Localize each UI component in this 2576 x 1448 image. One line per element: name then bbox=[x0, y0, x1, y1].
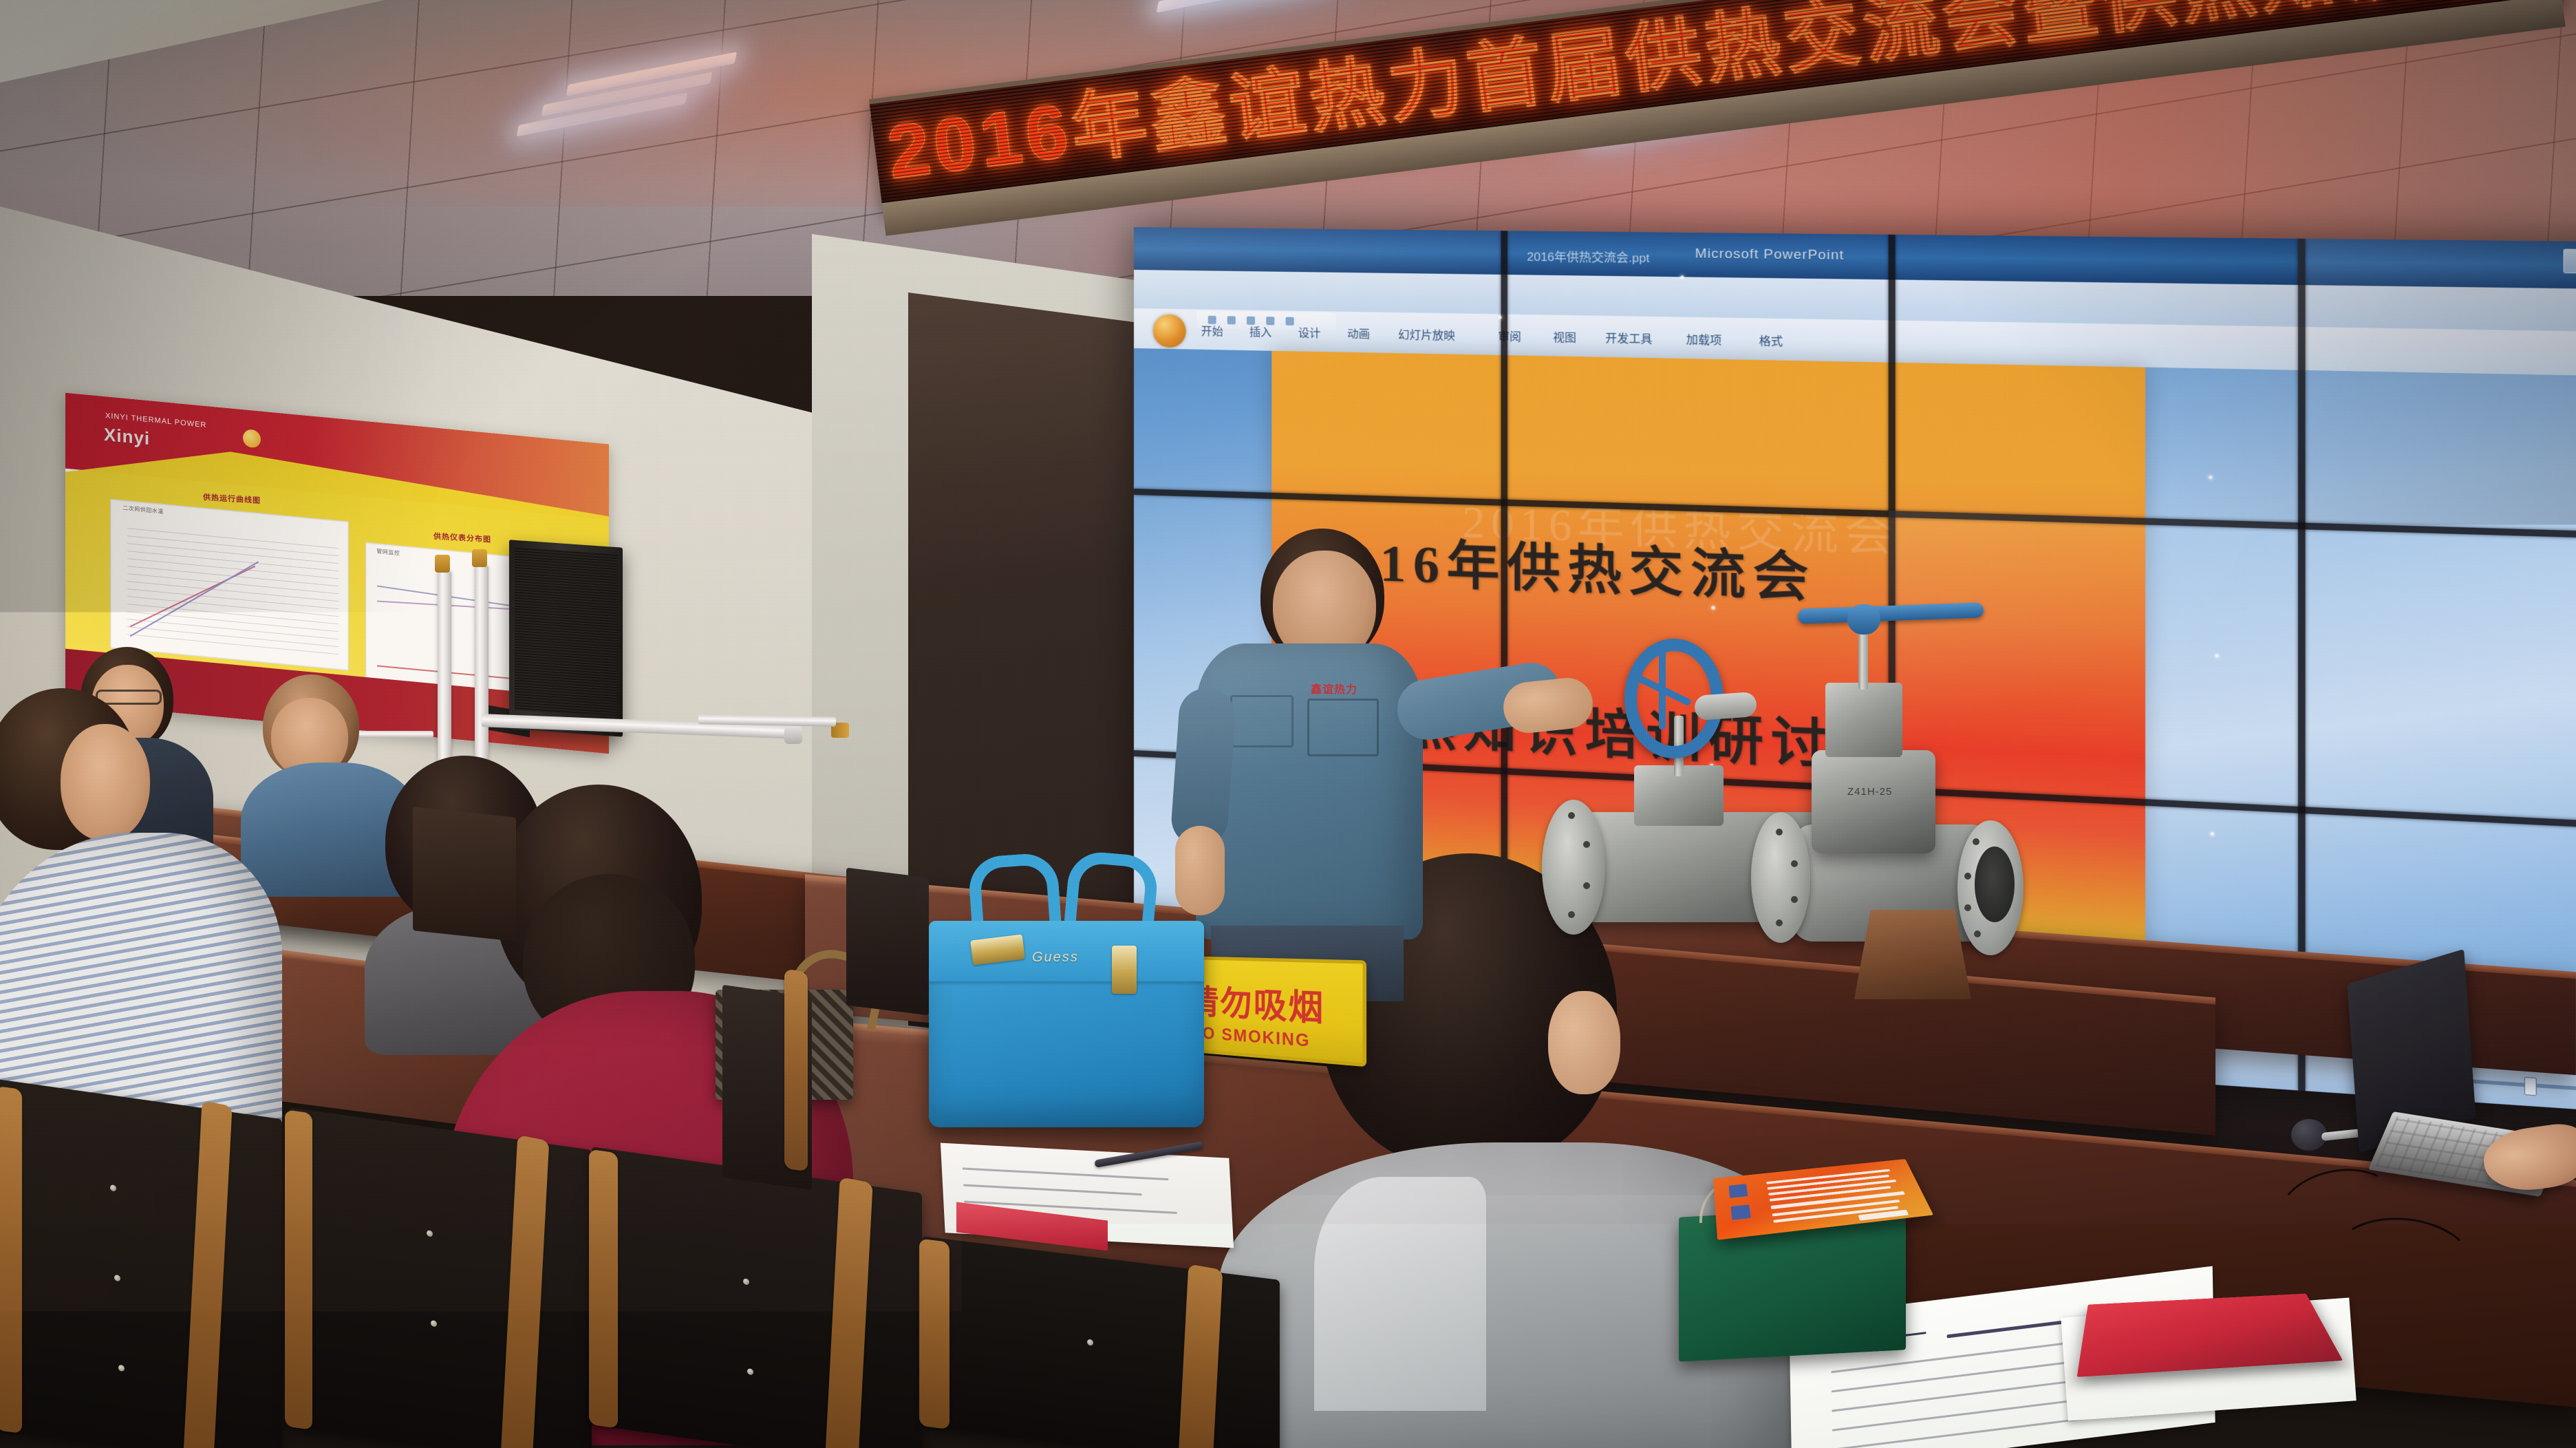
wall-speaker: JBL bbox=[509, 540, 623, 737]
window-minimize-button[interactable]: — bbox=[2564, 249, 2576, 274]
valve-pedestal bbox=[1854, 910, 1971, 999]
poster-logo-big: Xinyi bbox=[104, 424, 150, 449]
conference-room-photo: XINYI THERMAL POWER Xinyi 供热运行曲线图 供热仪表分布… bbox=[0, 0, 2576, 1448]
valve-right-marking: Z41H-25 bbox=[1847, 786, 1892, 798]
poster-chart-left-label: 二次网供回水温 bbox=[122, 504, 164, 516]
ribbon-tab-design[interactable]: 设计 bbox=[1298, 323, 1321, 341]
valve-right-hub bbox=[1847, 604, 1880, 635]
foreground-ear bbox=[1548, 991, 1620, 1094]
handbag-logo: Guess bbox=[1032, 950, 1079, 966]
presenter-badge: 鑫谊热力 bbox=[1311, 680, 1357, 696]
valve-right-neck bbox=[1812, 750, 1935, 853]
chair-back-left-frame bbox=[784, 969, 808, 1172]
presenter-hand-left bbox=[1175, 826, 1225, 915]
poster-chart-right-label: 管网监控 bbox=[376, 547, 400, 557]
valve-left-stub bbox=[1694, 692, 1757, 721]
presenter-pocket-right bbox=[1307, 699, 1379, 756]
poster-chart-left: 二次网供回水温 bbox=[110, 499, 349, 671]
foreground-collar bbox=[1314, 1177, 1486, 1411]
no-smoking-sign: 请勿吸烟 NO SMOKING bbox=[1178, 956, 1367, 1067]
powerpoint-file-title: 2016年供热交流会.ppt bbox=[1527, 246, 1649, 266]
handbag-clasp-right bbox=[1112, 946, 1137, 994]
pipe-valve-knob-1 bbox=[435, 555, 450, 573]
valve-left-flange bbox=[1542, 800, 1605, 935]
chair-1[interactable] bbox=[0, 1078, 282, 1448]
pipe-valve-knob-2 bbox=[472, 549, 487, 567]
ribbon-tab-slideshow[interactable]: 幻灯片放映 bbox=[1398, 325, 1455, 343]
no-smoking-chinese: 请勿吸烟 bbox=[1188, 975, 1324, 1032]
ribbon-tab-view[interactable]: 视图 bbox=[1553, 328, 1576, 345]
ribbon-tab-addins[interactable]: 加载项 bbox=[1686, 330, 1722, 348]
valve-right-bore bbox=[1975, 847, 2015, 922]
ribbon-tab-insert[interactable]: 插入 bbox=[1249, 323, 1271, 340]
pipe-elbow bbox=[784, 726, 802, 744]
speaker-grille bbox=[515, 547, 617, 717]
ribbon-tab-start[interactable]: 开始 bbox=[1201, 322, 1223, 339]
valve-right-handwheel[interactable] bbox=[1798, 602, 1984, 624]
valve-right-flange-left bbox=[1751, 812, 1810, 943]
presenter-pocket-left bbox=[1230, 695, 1294, 747]
powerpoint-app-title: Microsoft PowerPoint bbox=[1695, 246, 1845, 264]
chair-back-mid[interactable] bbox=[846, 868, 929, 1016]
presenter-arm-left bbox=[1170, 686, 1237, 848]
office-orb-button[interactable] bbox=[1153, 314, 1186, 348]
chair-back-far[interactable] bbox=[413, 807, 516, 941]
presenter: 鑫谊热力 bbox=[1170, 523, 1555, 998]
ribbon-tab-animation[interactable]: 动画 bbox=[1347, 324, 1370, 341]
chair-2[interactable] bbox=[289, 1107, 592, 1448]
valve-right-bonnet bbox=[1825, 683, 1902, 757]
display-pipe-vertical-1 bbox=[438, 571, 451, 771]
chair-3[interactable] bbox=[592, 1147, 922, 1448]
poster-chart-left-grid bbox=[127, 525, 339, 654]
blue-handbag: Guess bbox=[929, 921, 1204, 1127]
display-pipe-vertical-2 bbox=[475, 566, 489, 772]
ribbon-tab-format[interactable]: 格式 bbox=[1759, 331, 1783, 349]
laptop[interactable] bbox=[2339, 965, 2546, 1192]
ribbon-tab-developer[interactable]: 开发工具 bbox=[1605, 328, 1652, 346]
